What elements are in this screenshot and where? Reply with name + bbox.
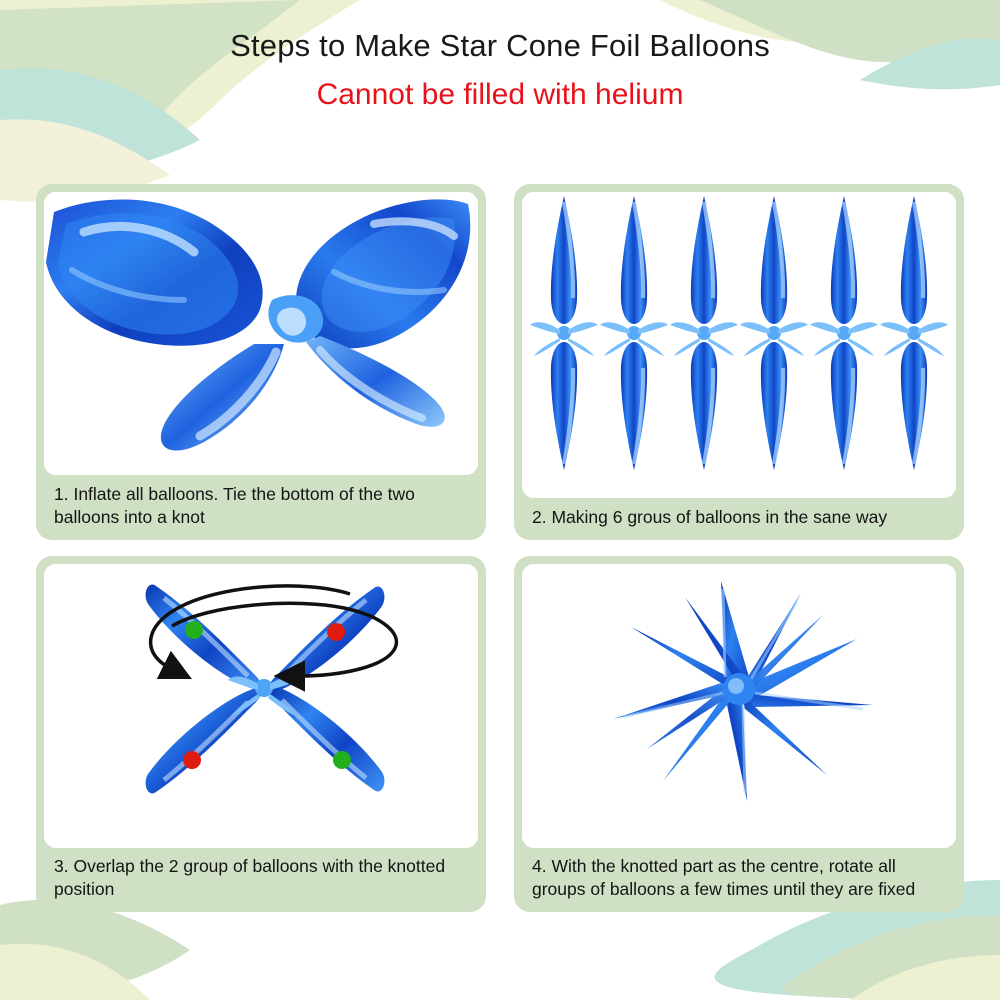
- page-subtitle: Cannot be filled with helium: [0, 78, 1000, 112]
- step-caption-2: 2. Making 6 grous of balloons in the san…: [522, 498, 956, 532]
- six-groups-of-balloons-photo: [522, 192, 956, 498]
- step-card-3: 3. Overlap the 2 group of balloons with …: [36, 556, 486, 912]
- two-inflated-balloons-knotted-photo: [44, 192, 478, 475]
- step-caption-1: 1. Inflate all balloons. Tie the bottom …: [44, 475, 478, 532]
- red-dot-top-right: [327, 623, 345, 641]
- red-dot-bottom-left: [183, 751, 201, 769]
- step-caption-4: 4. With the knotted part as the centre, …: [522, 848, 956, 904]
- step-card-4: 4. With the knotted part as the centre, …: [514, 556, 964, 912]
- green-dot-top-left: [185, 621, 203, 639]
- steps-grid: 1. Inflate all balloons. Tie the bottom …: [36, 184, 964, 912]
- finished-star-cone-balloon-photo: [522, 564, 956, 848]
- page-title: Steps to Make Star Cone Foil Balloons: [0, 28, 1000, 64]
- page-header: Steps to Make Star Cone Foil Balloons Ca…: [0, 28, 1000, 112]
- step-caption-3: 3. Overlap the 2 group of balloons with …: [44, 848, 478, 904]
- instruction-page: Steps to Make Star Cone Foil Balloons Ca…: [0, 0, 1000, 1000]
- step-card-1: 1. Inflate all balloons. Tie the bottom …: [36, 184, 486, 540]
- step-card-2: 2. Making 6 grous of balloons in the san…: [514, 184, 964, 540]
- green-dot-bottom-right: [333, 751, 351, 769]
- overlapping-two-groups-photo: [44, 564, 478, 848]
